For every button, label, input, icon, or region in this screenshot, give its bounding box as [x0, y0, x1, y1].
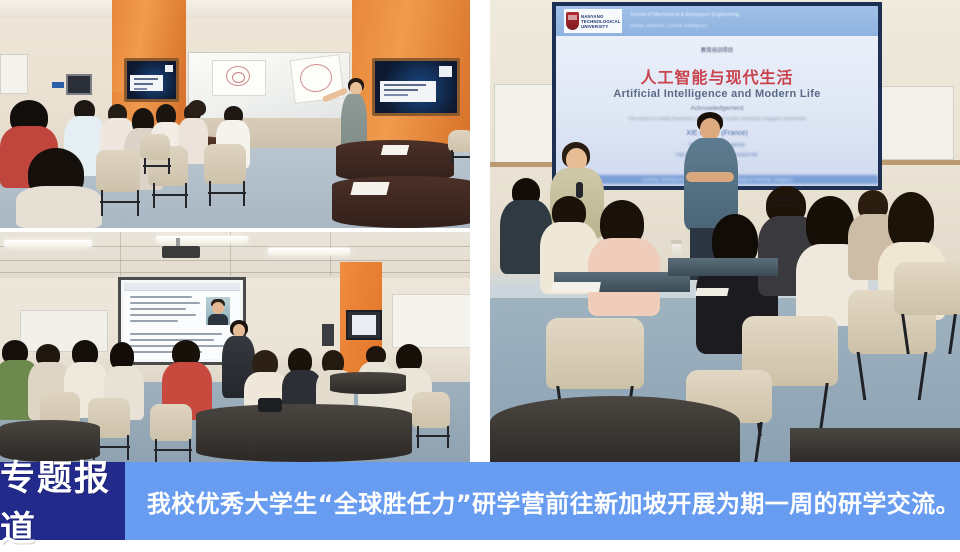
- paper-sheet: [551, 282, 601, 292]
- wall-monitor-icon: [66, 74, 92, 95]
- portrait-thumbnail: [206, 297, 230, 325]
- photo-right: NANYANG TECHNOLOGICAL UNIVERSITY School …: [490, 0, 960, 462]
- side-monitor: [346, 310, 382, 340]
- slide-kicker: 教育培训项目: [556, 46, 878, 54]
- slide-title-cn: 人工智能与现代生活: [556, 64, 878, 88]
- photo-top-left: [0, 0, 470, 228]
- collage-poster: NANYANG TECHNOLOGICAL UNIVERSITY School …: [0, 0, 960, 540]
- ceiling-projector-icon: [162, 246, 200, 258]
- microphone-icon: [576, 182, 583, 198]
- caption-bar: 专题报道 我校优秀大学生“全球胜任力”研学营前往新加坡开展为期一周的研学交流。: [0, 462, 960, 540]
- caption-headline: 我校优秀大学生“全球胜任力”研学营前往新加坡开展为期一周的研学交流。: [147, 484, 960, 519]
- logo-line-2: TECHNOLOGICAL: [581, 19, 621, 24]
- photo-bottom-left: [0, 232, 470, 462]
- slide-school: School of Mechanical & Aerospace Enginee…: [630, 11, 872, 20]
- camera-icon: [258, 398, 282, 412]
- caption-body: 我校优秀大学生“全球胜任力”研学营前往新加坡开展为期一周的研学交流。: [125, 462, 960, 540]
- slide-ack-label: Acknowledgement: [556, 105, 878, 112]
- slide-title-en: Artificial Intelligence and Modern Life: [556, 88, 878, 100]
- feature-badge: 专题报道: [0, 462, 125, 540]
- wall-tv-left: [124, 58, 179, 102]
- photo-collage: NANYANG TECHNOLOGICAL UNIVERSITY School …: [0, 0, 960, 462]
- eyeglasses-icon: [774, 198, 798, 206]
- slide-school-sub: Design, Machine, Control, Intelligence: [630, 22, 872, 30]
- wall-tv-right: [372, 58, 460, 116]
- feature-badge-label: 专题报道: [0, 450, 125, 552]
- logo-line-3: UNIVERSITY: [581, 24, 621, 29]
- paper-cup: [672, 242, 681, 258]
- ntu-logo-icon: NANYANG TECHNOLOGICAL UNIVERSITY: [564, 9, 622, 33]
